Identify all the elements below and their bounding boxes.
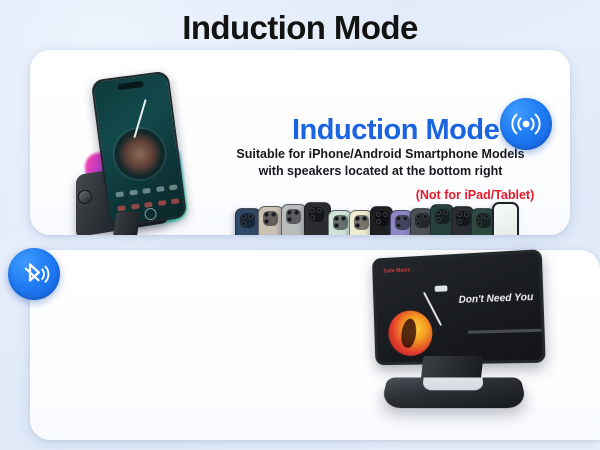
stand-knob [78, 190, 92, 204]
stand-neck [112, 212, 141, 235]
bluetooth-signal-icon [8, 248, 60, 300]
album-disc [112, 126, 168, 182]
induction-subtitle-line1: Suitable for iPhone/Android Smartphone M… [208, 146, 553, 163]
player-controls-row [115, 184, 177, 197]
poster-stage: Induction Mode [0, 0, 600, 450]
tablet-screen: Cute Music Don't Need You [372, 249, 546, 365]
play-circle-icon [144, 207, 157, 220]
induction-subtitle-line2: with speakers located at the bottom righ… [208, 163, 553, 180]
induction-device-lineup [235, 192, 516, 235]
tablet-stand-base [380, 378, 528, 409]
phone-on-charging-stand-photo [62, 72, 212, 235]
tablet-tonearm-tip [435, 285, 448, 292]
phone-notch [117, 81, 144, 90]
page-title: Induction Mode [0, 9, 600, 47]
induction-mode-card: Induction Mode Suitable for iPhone/Andro… [30, 50, 570, 235]
tablet-on-stand-photo: Cute Music Don't Need You [352, 248, 552, 433]
device-iphone-black-titanium [304, 202, 331, 235]
induction-mode-subtitle: Suitable for iPhone/Android Smartphone M… [208, 146, 553, 180]
induction-wave-icon [500, 98, 552, 150]
music-app-brand: Cute Music [383, 267, 410, 274]
now-playing-title: Don't Need You [458, 292, 533, 306]
device-galaxy-front-white [492, 202, 519, 235]
induction-mode-heading: Induction Mode [292, 114, 499, 147]
album-art [388, 310, 433, 356]
now-playing-meta [468, 329, 544, 334]
